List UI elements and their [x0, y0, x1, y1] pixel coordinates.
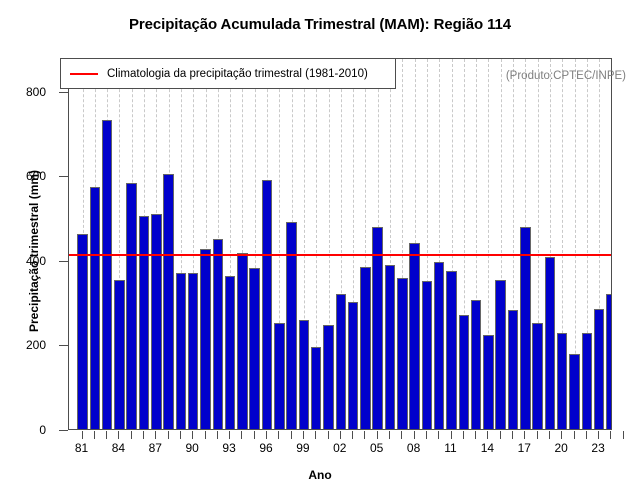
x-axis-tick-mark [414, 431, 415, 439]
x-axis-tick-mark [561, 431, 562, 439]
x-axis-tick-mark [500, 431, 501, 439]
x-axis-tick-mark [586, 431, 587, 439]
x-axis-tick-mark [451, 431, 452, 439]
x-axis-tick-label: 17 [509, 441, 539, 455]
x-axis-tick-label: 93 [214, 441, 244, 455]
legend-label: Climatologia da precipitação trimestral … [107, 68, 368, 80]
x-axis-tick-label: 14 [472, 441, 502, 455]
x-axis-tick-mark [574, 431, 575, 439]
x-axis-tick-label: 20 [546, 441, 576, 455]
legend-line-swatch [70, 73, 98, 75]
grid-line [611, 59, 612, 429]
x-axis-tick-mark [106, 431, 107, 439]
x-axis-tick-mark [340, 431, 341, 439]
y-axis-tick-mark [59, 430, 68, 431]
x-axis-tick-mark [192, 431, 193, 439]
x-axis-tick-mark [610, 431, 611, 439]
credit-annotation: (Produto:CPTEC/INPE) [506, 70, 626, 82]
y-axis-tick-mark [59, 176, 68, 177]
x-axis-tick-mark [82, 431, 83, 439]
x-axis-tick-mark [401, 431, 402, 439]
page-title: Precipitação Acumulada Trimestral (MAM):… [0, 16, 640, 33]
reference-line-layer [69, 59, 611, 429]
x-axis-tick-label: 23 [583, 441, 613, 455]
x-axis-tick-mark [364, 431, 365, 439]
plot-area [68, 58, 612, 430]
x-axis-tick-mark [537, 431, 538, 439]
x-axis-tick-label: 84 [103, 441, 133, 455]
x-axis-tick-mark [278, 431, 279, 439]
y-axis-tick-label: 0 [0, 423, 46, 437]
x-axis-tick-label: 99 [288, 441, 318, 455]
x-axis-tick-mark [205, 431, 206, 439]
x-axis-tick-label: 90 [177, 441, 207, 455]
climatology-reference-line [69, 254, 611, 256]
x-axis-tick-mark [241, 431, 242, 439]
x-axis-tick-mark [303, 431, 304, 439]
x-axis-tick-mark [155, 431, 156, 439]
x-axis-tick-label: 87 [140, 441, 170, 455]
x-axis-tick-mark [389, 431, 390, 439]
x-axis-label: Ano [0, 468, 640, 482]
x-axis-tick-mark [217, 431, 218, 439]
y-axis-tick-label: 400 [0, 254, 46, 268]
x-axis-tick-mark [377, 431, 378, 439]
x-axis-tick-mark [94, 431, 95, 439]
x-axis-tick-mark [229, 431, 230, 439]
y-axis-tick-label: 800 [0, 85, 46, 99]
x-axis-tick-mark [623, 431, 624, 439]
x-axis-tick-mark [266, 431, 267, 439]
x-axis-tick-label: 81 [67, 441, 97, 455]
x-axis-tick-mark [328, 431, 329, 439]
x-axis-tick-mark [549, 431, 550, 439]
x-axis-tick-label: 08 [399, 441, 429, 455]
x-axis-tick-mark [180, 431, 181, 439]
chart-page: Precipitação Acumulada Trimestral (MAM):… [0, 0, 640, 500]
x-axis-tick-mark [168, 431, 169, 439]
x-axis-tick-mark [487, 431, 488, 439]
y-axis-tick-mark [59, 261, 68, 262]
x-axis-tick-mark [131, 431, 132, 439]
x-axis-tick-mark [512, 431, 513, 439]
x-axis-tick-label: 96 [251, 441, 281, 455]
y-axis-tick-mark [59, 92, 68, 93]
x-axis-tick-mark [118, 431, 119, 439]
y-axis-tick-mark [59, 345, 68, 346]
x-axis-tick-mark [524, 431, 525, 439]
x-axis-tick-mark [291, 431, 292, 439]
x-axis-tick-mark [315, 431, 316, 439]
x-axis-tick-mark [475, 431, 476, 439]
x-axis-tick-mark [352, 431, 353, 439]
x-axis-tick-label: 05 [362, 441, 392, 455]
x-axis-tick-label: 02 [325, 441, 355, 455]
x-axis-tick-mark [438, 431, 439, 439]
x-axis-tick-mark [254, 431, 255, 439]
x-axis-tick-mark [143, 431, 144, 439]
y-axis-tick-label: 200 [0, 338, 46, 352]
x-axis-tick-mark [426, 431, 427, 439]
y-axis-tick-label: 600 [0, 169, 46, 183]
legend: Climatologia da precipitação trimestral … [60, 58, 396, 89]
x-axis-tick-mark [463, 431, 464, 439]
x-axis-tick-mark [598, 431, 599, 439]
x-axis-tick-label: 11 [436, 441, 466, 455]
